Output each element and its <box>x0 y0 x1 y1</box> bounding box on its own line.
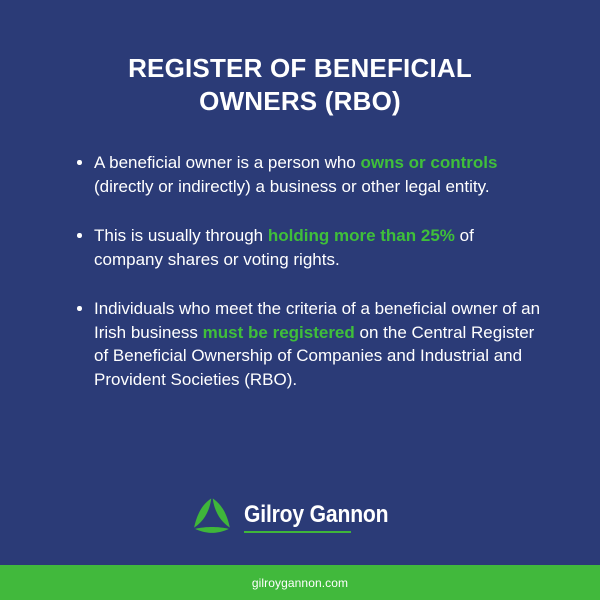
footer-website: gilroygannon.com <box>252 576 348 590</box>
highlighted-phrase: owns or controls <box>361 153 498 172</box>
logo-area: Gilroy Gannon <box>0 491 600 565</box>
footer-bar: gilroygannon.com <box>0 565 600 600</box>
bullet-text: This is usually through holding more tha… <box>94 226 474 269</box>
plain-phrase: A beneficial owner is a person who <box>94 153 361 172</box>
bullet-list: A beneficial owner is a person who owns … <box>70 151 542 391</box>
bullet-text: A beneficial owner is a person who owns … <box>94 153 497 196</box>
bullet-text: Individuals who meet the criteria of a b… <box>94 299 540 389</box>
plain-phrase: (directly or indirectly) a business or o… <box>94 177 490 196</box>
logo-wordmark-wrap: Gilroy Gannon <box>244 502 408 533</box>
bullet-dot-icon <box>77 160 82 165</box>
page-title: REGISTER OF BENEFICIAL OWNERS (RBO) <box>70 52 530 118</box>
brand-logo: Gilroy Gannon <box>191 497 408 537</box>
bullet-item: This is usually through holding more tha… <box>70 224 542 271</box>
logo-wordmark: Gilroy Gannon <box>244 502 388 528</box>
highlighted-phrase: must be registered <box>203 323 355 342</box>
bullet-item: Individuals who meet the criteria of a b… <box>70 297 542 391</box>
content-area: A beneficial owner is a person who owns … <box>0 118 600 491</box>
bullet-dot-icon <box>77 306 82 311</box>
logo-underline-rule <box>244 531 351 533</box>
bullet-dot-icon <box>77 233 82 238</box>
highlighted-phrase: holding more than 25% <box>268 226 455 245</box>
bullet-item: A beneficial owner is a person who owns … <box>70 151 542 198</box>
triangle-logo-icon <box>191 497 233 537</box>
poster-canvas: REGISTER OF BENEFICIAL OWNERS (RBO) A be… <box>0 0 600 600</box>
plain-phrase: This is usually through <box>94 226 268 245</box>
title-block: REGISTER OF BENEFICIAL OWNERS (RBO) <box>0 0 600 118</box>
